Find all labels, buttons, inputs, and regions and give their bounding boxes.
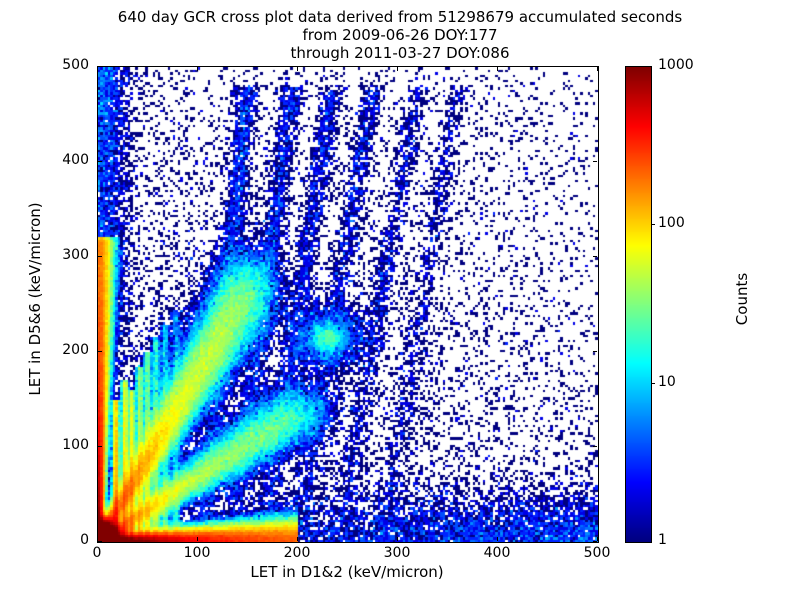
y-tick-mark <box>593 161 597 162</box>
y-tick-mark <box>98 66 102 67</box>
title-line-1: 640 day GCR cross plot data derived from… <box>0 8 800 26</box>
colorbar-tick-mark <box>651 224 655 225</box>
title-line-2: from 2009-06-26 DOY:177 <box>0 26 800 44</box>
y-tick-mark <box>98 161 102 162</box>
colorbar-tick-label: 1 <box>658 532 667 548</box>
let-cross-plot-heatmap <box>98 67 598 542</box>
x-axis-label: LET in D1&2 (keV/micron) <box>97 563 597 581</box>
y-tick-mark <box>98 351 102 352</box>
chart-title: 640 day GCR cross plot data derived from… <box>0 8 800 62</box>
y-tick-label: 0 <box>29 532 89 548</box>
x-tick-mark <box>197 67 198 71</box>
x-tick-mark <box>397 67 398 71</box>
x-tick-mark <box>197 537 198 541</box>
x-tick-label: 300 <box>367 545 427 561</box>
y-tick-label: 100 <box>29 437 89 453</box>
y-tick-mark <box>593 541 597 542</box>
y-tick-mark <box>98 256 102 257</box>
x-tick-mark <box>297 67 298 71</box>
y-tick-label: 500 <box>29 57 89 73</box>
x-tick-mark <box>597 67 598 71</box>
y-tick-mark <box>593 446 597 447</box>
x-tick-label: 500 <box>567 545 627 561</box>
y-axis-label: LET in D5&6 (keV/micron) <box>26 159 44 439</box>
x-tick-mark <box>297 537 298 541</box>
x-tick-mark <box>597 537 598 541</box>
x-tick-mark <box>397 537 398 541</box>
x-tick-mark <box>497 537 498 541</box>
x-tick-mark <box>497 67 498 71</box>
x-tick-mark <box>97 67 98 71</box>
y-tick-mark <box>593 256 597 257</box>
y-tick-mark <box>98 541 102 542</box>
y-tick-mark <box>593 66 597 67</box>
colorbar-tick-label: 1000 <box>658 57 694 73</box>
colorbar-gradient <box>626 67 651 542</box>
colorbar-tick-label: 100 <box>658 215 685 231</box>
x-tick-label: 100 <box>167 545 227 561</box>
x-tick-label: 200 <box>267 545 327 561</box>
figure-canvas: 640 day GCR cross plot data derived from… <box>0 0 800 600</box>
y-tick-mark <box>98 446 102 447</box>
colorbar-tick-label: 10 <box>658 374 676 390</box>
x-tick-label: 400 <box>467 545 527 561</box>
colorbar-label: Counts <box>733 169 751 429</box>
colorbar-tick-mark <box>651 383 655 384</box>
scatter-plot-axes <box>97 66 599 543</box>
y-tick-mark <box>593 351 597 352</box>
colorbar <box>625 66 652 543</box>
